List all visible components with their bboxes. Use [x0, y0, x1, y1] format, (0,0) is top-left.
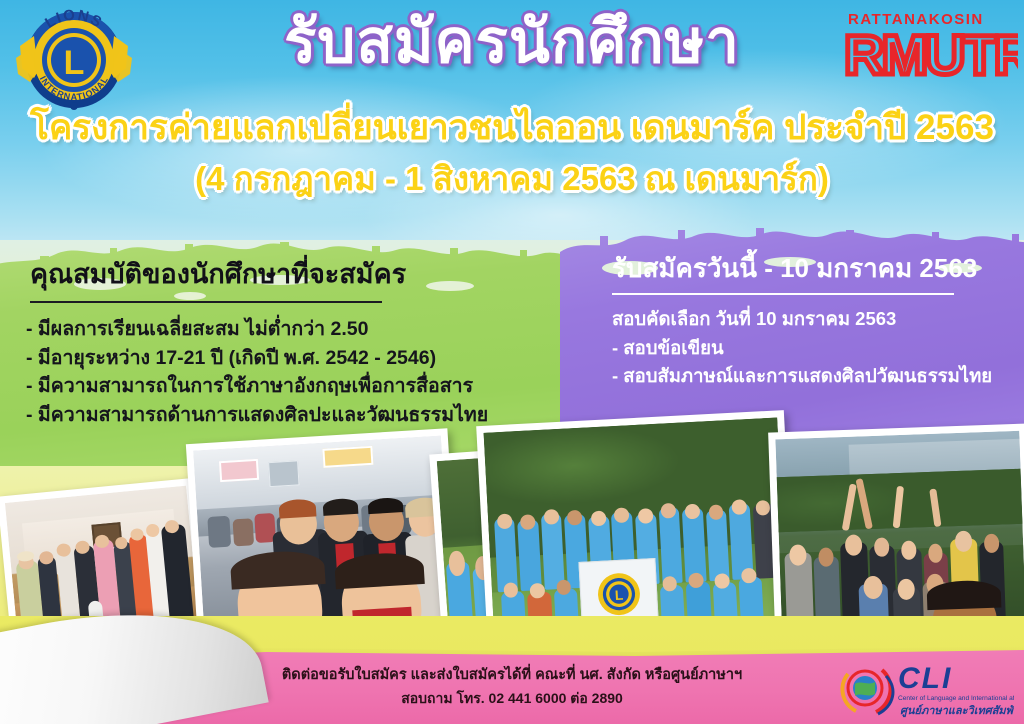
schedule-line: - สอบข้อเขียน [612, 334, 1012, 363]
list-item: - มีความสามารถด้านการแสดงศิลปะและวัฒนธรร… [26, 401, 546, 430]
cli-big-text: CLI [898, 662, 952, 695]
list-item: - มีอายุระหว่าง 17-21 ปี (เกิดปี พ.ศ. 25… [26, 344, 546, 373]
poster-canvas: L LIONS INTERNATIONAL RATTANAKOSIN RMUTR… [0, 0, 1024, 724]
program-subtitle: โครงการค่ายแลกเปลี่ยนเยาวชนไลออน เดนมาร์… [0, 108, 1024, 148]
schedule-line: - สอบสัมภาษณ์และการแสดงศิลปวัฒนธรรมไทย [612, 362, 1012, 391]
program-dates: (4 กรกฎาคม - 1 สิงหาคม 2563 ณ เดนมาร์ก) [0, 160, 1024, 198]
list-item: - มีผลการเรียนเฉลี่ยสะสม ไม่ต่ำกว่า 2.50 [26, 315, 546, 344]
schedule-heading: รับสมัครวันนี้ - 10 มกราคม 2563 [612, 248, 977, 289]
lions-flag-emblem: L [591, 569, 647, 620]
schedule-section: รับสมัครวันนี้ - 10 มกราคม 2563 สอบคัดเล… [612, 248, 1012, 391]
qualifications-list: - มีผลการเรียนเฉลี่ยสะสม ไม่ต่ำกว่า 2.50… [26, 315, 546, 430]
schedule-divider [612, 293, 954, 295]
qualifications-heading: คุณสมบัติของนักศึกษาที่จะสมัคร [30, 252, 406, 299]
schedule-line: สอบคัดเลือก วันที่ 10 มกราคม 2563 [612, 305, 1012, 334]
cli-globe-swoosh [842, 670, 893, 714]
qualifications-section: คุณสมบัติของนักศึกษาที่จะสมัคร - มีผลการ… [26, 252, 546, 430]
cli-logo: CLI Center of Language and International… [838, 656, 1014, 722]
qualifications-divider [30, 301, 382, 303]
page-title: รับสมัครนักศึกษา [0, 12, 1024, 72]
svg-text:L: L [614, 588, 623, 603]
list-item: - มีความสามารถในการใช้ภาษาอังกฤษเพื่อการ… [26, 372, 546, 401]
cli-sub-text-th: ศูนย์ภาษาและวิเทศสัมพันธ์ [900, 704, 1014, 718]
cli-sub-text-en: Center of Language and International aff… [898, 695, 1014, 702]
